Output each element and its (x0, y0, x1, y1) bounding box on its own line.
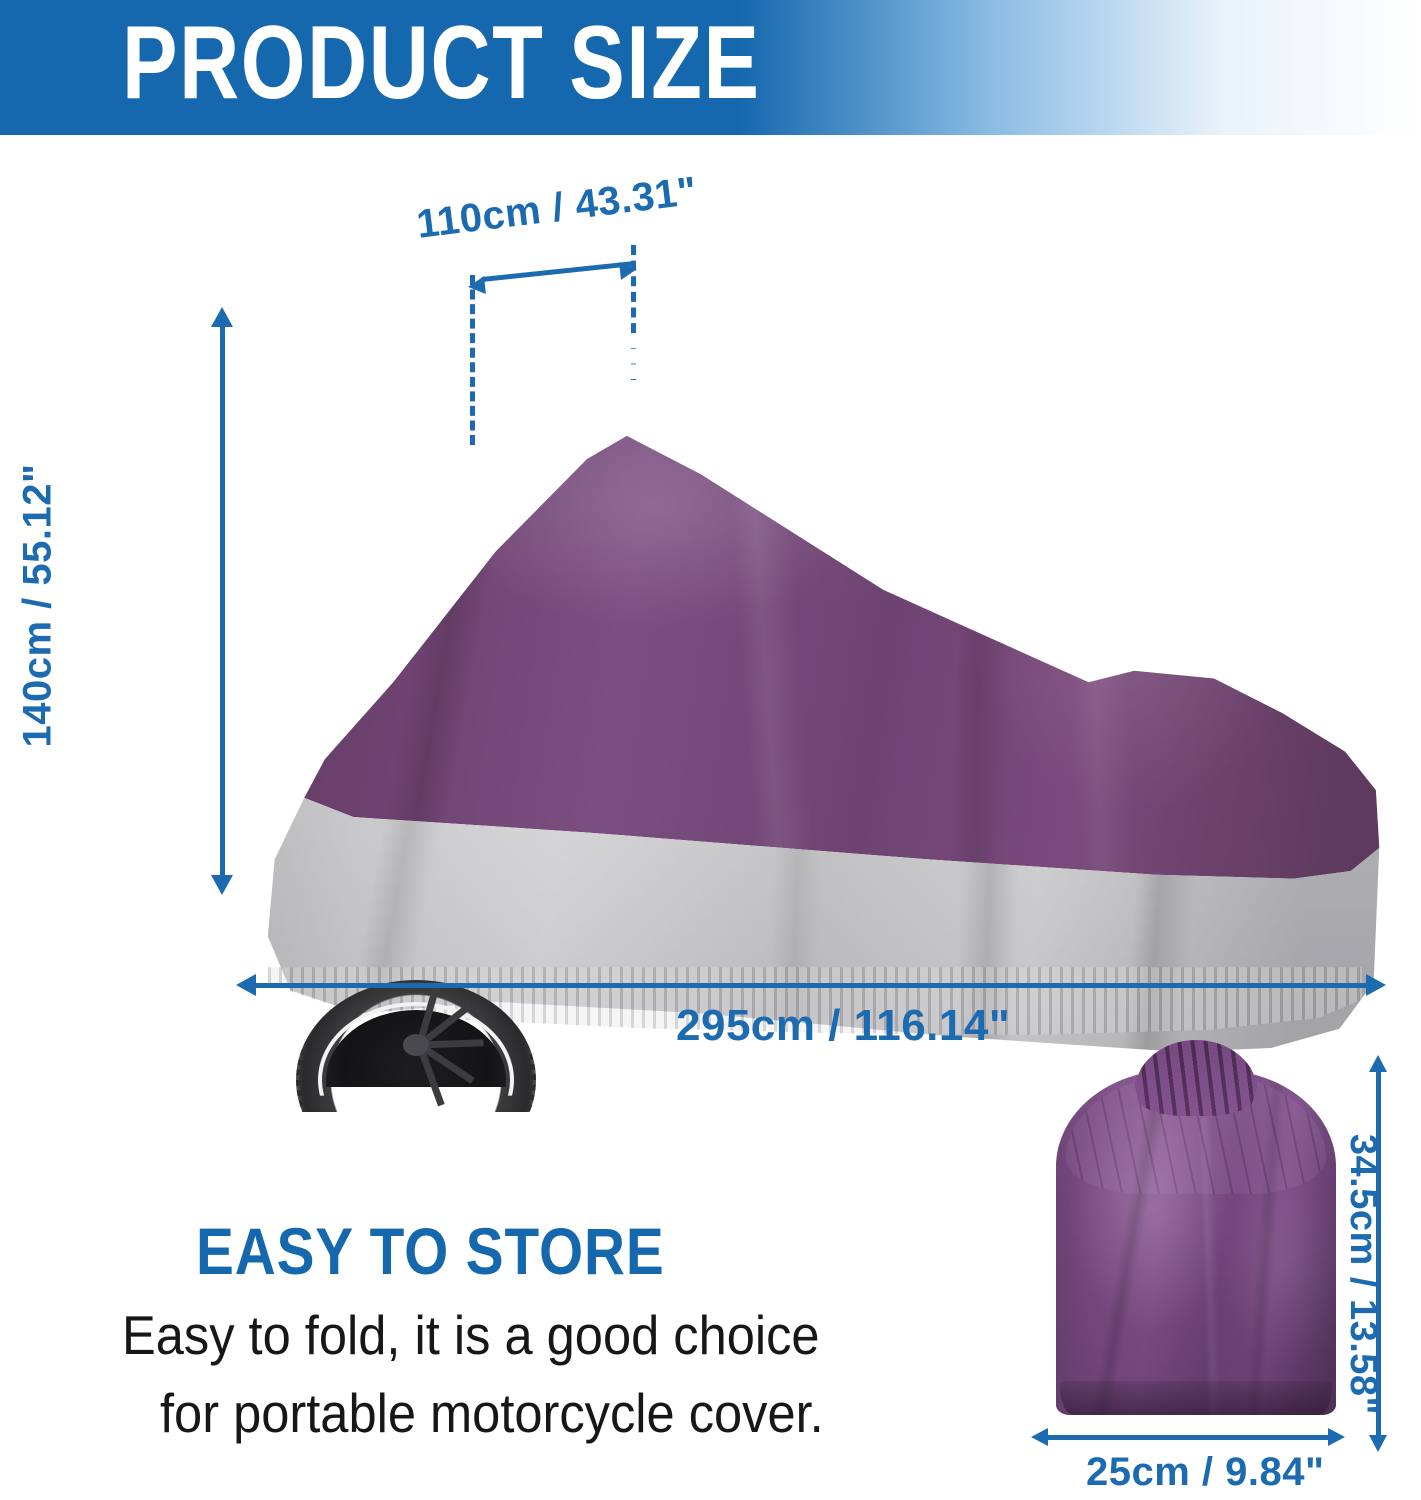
arrow-left-icon (467, 276, 486, 296)
wheel-rim (326, 1010, 506, 1150)
product-size-banner: PRODUCT SIZE (0, 0, 1421, 135)
easy-to-store-line2: for portable motorcycle cover. (160, 1381, 824, 1445)
arrow-up-icon (1369, 1055, 1387, 1072)
storage-bag-illustration (1056, 1040, 1336, 1415)
bag-width-label: 25cm / 9.84" (1086, 1450, 1324, 1495)
cover-width-label: 110cm / 43.31" (414, 169, 699, 248)
arrow-down-icon (1369, 1435, 1387, 1452)
arrow-right-icon (1328, 1428, 1345, 1446)
arrow-down-icon (211, 875, 233, 895)
bag-drawstring-cinch (1134, 1040, 1258, 1116)
product-diagram-stage: 110cm / 43.31" 140cm / 55.12" 295cm / 11… (0, 135, 1421, 1500)
arrow-left-icon (236, 974, 256, 996)
front-wheel (296, 980, 536, 1110)
width-dimension-line (482, 261, 632, 282)
arrow-right-icon (619, 260, 638, 280)
arrow-up-icon (211, 307, 233, 327)
page-title: PRODUCT SIZE (122, 11, 761, 115)
easy-to-store-line1: Easy to fold, it is a good choice (122, 1303, 820, 1367)
dashed-guide-right-white (631, 338, 636, 410)
length-dimension-line (252, 983, 1370, 988)
arrow-right-icon (1366, 974, 1386, 996)
easy-to-store-heading: EASY TO STORE (196, 1213, 665, 1289)
dashed-guide-left (470, 275, 475, 445)
height-dimension-line (220, 323, 225, 875)
arrow-left-icon (1031, 1428, 1048, 1446)
cover-length-label: 295cm / 116.14" (676, 1001, 1010, 1051)
wheel-hub (403, 1034, 429, 1056)
motorcycle-cover-illustration (245, 305, 1385, 1075)
bag-bottom-shadow (1060, 1381, 1332, 1415)
bag-width-dimension-line (1046, 1435, 1332, 1440)
bag-height-label: 34.5cm / 13.58" (1341, 1134, 1384, 1415)
cover-height-label: 140cm / 55.12" (15, 464, 60, 748)
